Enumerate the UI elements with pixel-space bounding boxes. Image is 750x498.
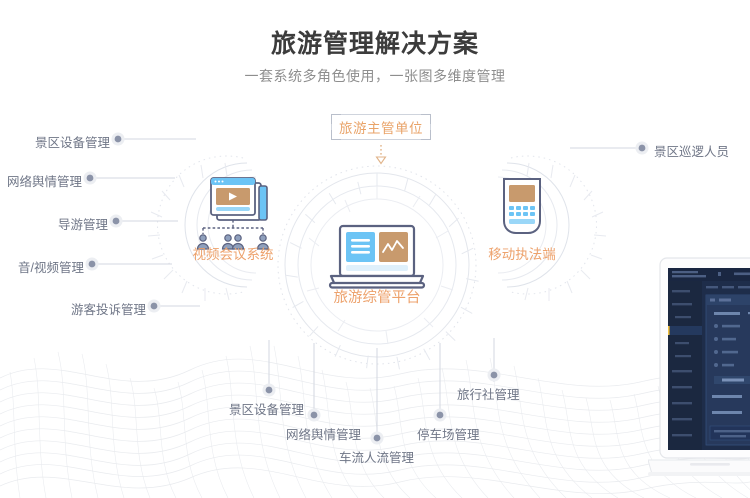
node-label-video-conference: 视频会议系统 bbox=[168, 243, 298, 263]
label-bottom-4: 旅行社管理 bbox=[457, 384, 520, 403]
laptop-dashboard-icon bbox=[330, 226, 424, 288]
node-label-mobile-enforcement: 移动执法端 bbox=[457, 243, 587, 263]
video-conference-icon bbox=[198, 178, 269, 249]
node-label-platform: 旅游综管平台 bbox=[312, 286, 442, 307]
label-left-3: 音/视频管理 bbox=[0, 257, 84, 276]
label-right-0: 景区巡逻人员 bbox=[654, 141, 729, 160]
handheld-terminal-icon bbox=[504, 179, 540, 233]
authority-box[interactable]: 旅游主管单位 bbox=[331, 114, 431, 140]
authority-arrow bbox=[377, 145, 386, 164]
label-bottom-0: 景区设备管理 bbox=[229, 399, 304, 418]
laptop-mockup bbox=[648, 250, 750, 490]
label-left-1: 网络舆情管理 bbox=[0, 171, 82, 190]
label-bottom-2: 车流人流管理 bbox=[339, 447, 414, 466]
label-left-2: 导游管理 bbox=[0, 214, 108, 233]
label-left-4: 游客投诉管理 bbox=[0, 299, 146, 318]
authbox-bottom-edge bbox=[340, 139, 422, 140]
infographic-canvas: 旅游管理解决方案 一套系统多角色使用，一张图多维度管理 bbox=[0, 0, 750, 498]
label-left-0: 景区设备管理 bbox=[0, 132, 110, 151]
authority-label: 旅游主管单位 bbox=[339, 117, 423, 137]
diagram-layer bbox=[0, 0, 750, 498]
label-bottom-3: 停车场管理 bbox=[417, 424, 480, 443]
authbox-top-edge bbox=[340, 114, 422, 115]
label-bottom-1: 网络舆情管理 bbox=[286, 424, 361, 443]
